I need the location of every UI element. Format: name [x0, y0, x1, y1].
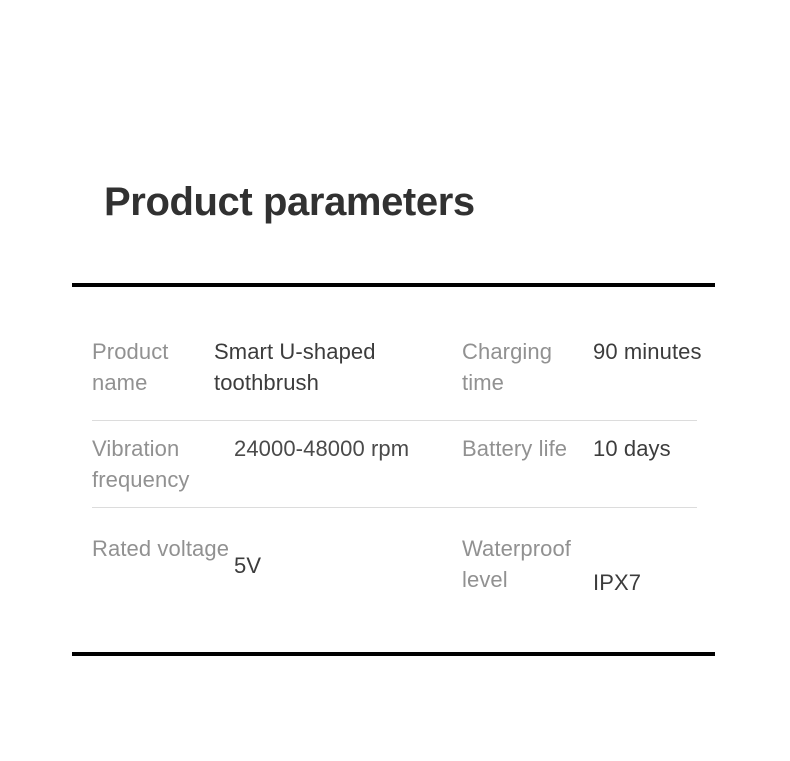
parameter-cell-waterproof-level: Waterproof level IPX7 — [462, 533, 762, 617]
table-row: Product name Smart U-shaped toothbrush C… — [0, 336, 790, 420]
parameter-label: Product name — [92, 336, 214, 398]
parameter-label: Charging time — [462, 336, 593, 398]
table-bottom-rule — [72, 652, 715, 656]
parameter-label: Battery life — [462, 433, 593, 464]
parameter-value: 5V — [234, 550, 452, 581]
parameter-value: 24000-48000 rpm — [234, 433, 452, 464]
parameter-label: Vibration frequency — [92, 433, 234, 495]
parameter-label: Waterproof level — [462, 533, 593, 595]
parameter-value: 90 minutes — [593, 336, 758, 367]
row-divider — [92, 420, 697, 421]
parameters-table: Product name Smart U-shaped toothbrush C… — [0, 0, 790, 761]
table-row: Rated voltage 5V Waterproof level IPX7 — [0, 533, 790, 617]
parameter-cell-product-name: Product name Smart U-shaped toothbrush — [92, 336, 452, 420]
parameter-cell-charging-time: Charging time 90 minutes — [462, 336, 762, 420]
parameter-cell-battery-life: Battery life 10 days — [462, 433, 762, 507]
parameter-value: Smart U-shaped toothbrush — [214, 336, 452, 398]
table-row: Vibration frequency 24000-48000 rpm Batt… — [0, 433, 790, 507]
product-parameters-page: Product parameters Product name Smart U-… — [0, 0, 790, 761]
row-divider — [92, 507, 697, 508]
parameter-value: 10 days — [593, 433, 758, 464]
parameter-cell-rated-voltage: Rated voltage 5V — [92, 533, 452, 617]
parameter-cell-vibration-frequency: Vibration frequency 24000-48000 rpm — [92, 433, 452, 507]
parameter-value: IPX7 — [593, 567, 758, 598]
parameter-label: Rated voltage — [92, 533, 234, 564]
